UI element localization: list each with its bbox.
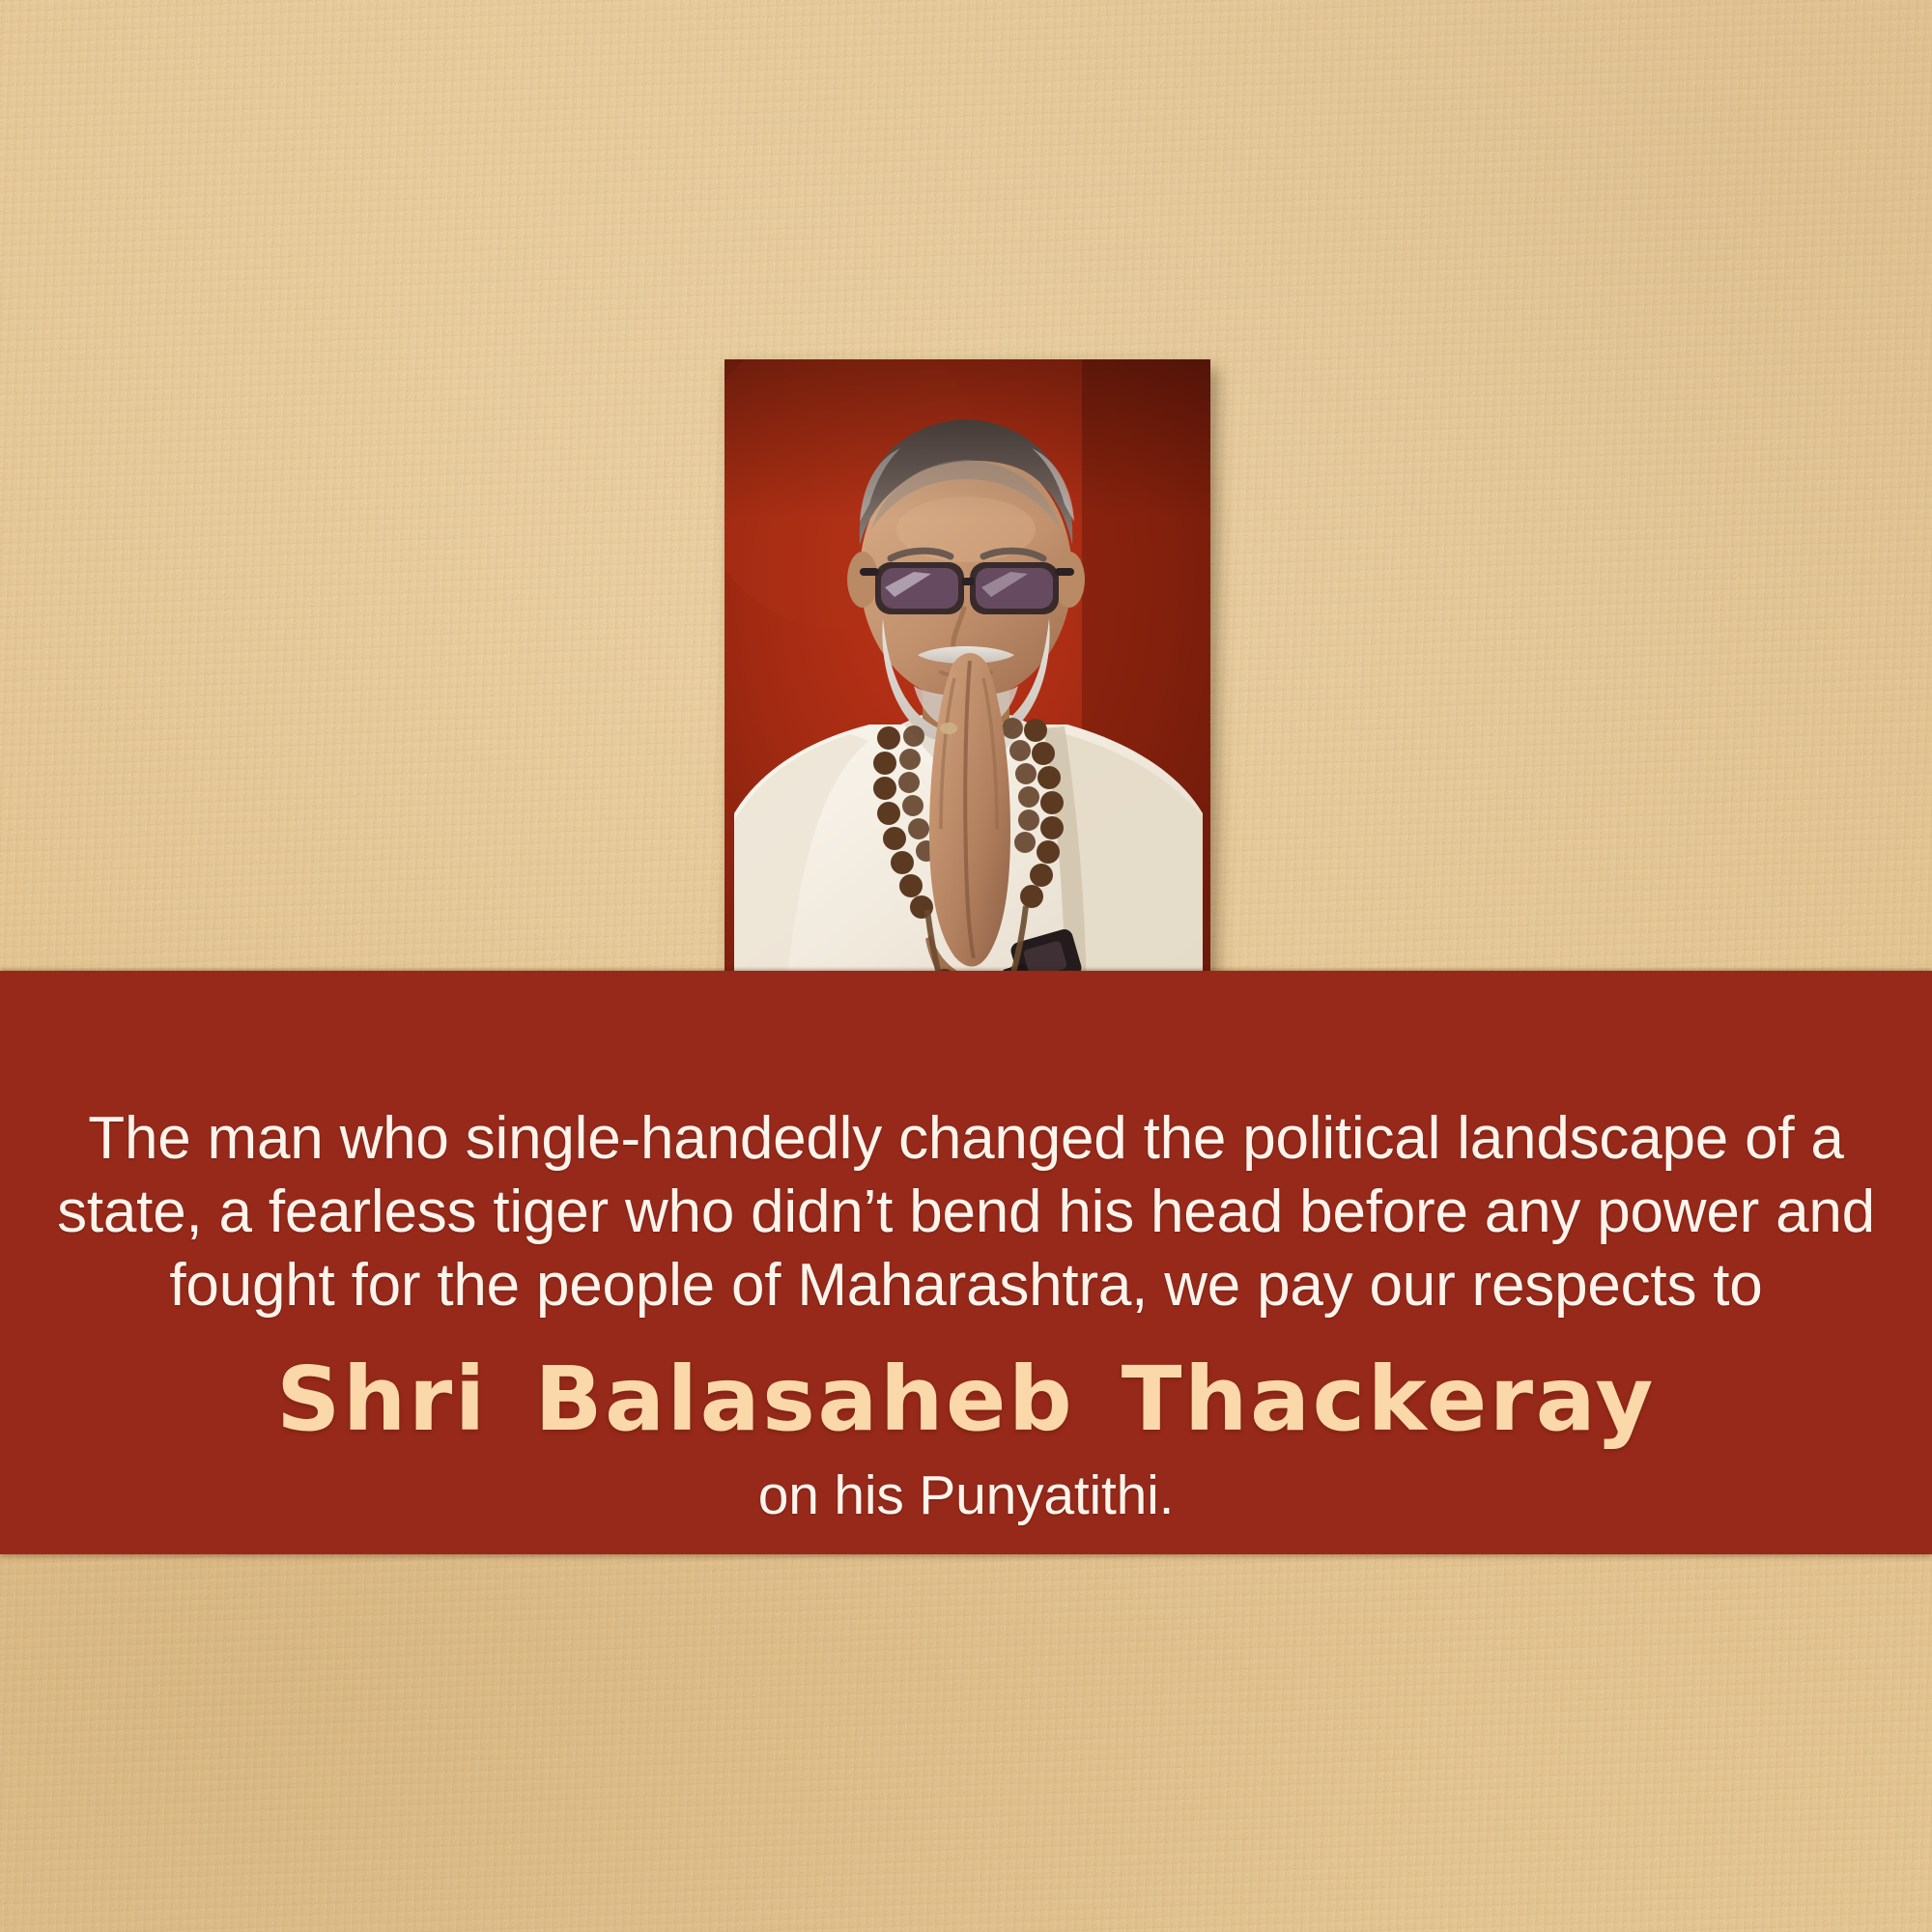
honoree-name: Shri Balasaheb Thackeray <box>0 1347 1932 1453</box>
tribute-line-2: state, a fearless tiger who didn’t bend … <box>48 1176 1884 1249</box>
tribute-line-1: The man who single-handedly changed the … <box>48 1102 1884 1176</box>
tribute-poster: The man who single-handedly changed the … <box>0 0 1932 1932</box>
tribute-message: The man who single-handedly changed the … <box>48 1102 1884 1322</box>
occasion-text: on his Punyatithi. <box>0 1462 1932 1529</box>
tribute-line-3: fought for the people of Maharashtra, we… <box>48 1249 1884 1322</box>
